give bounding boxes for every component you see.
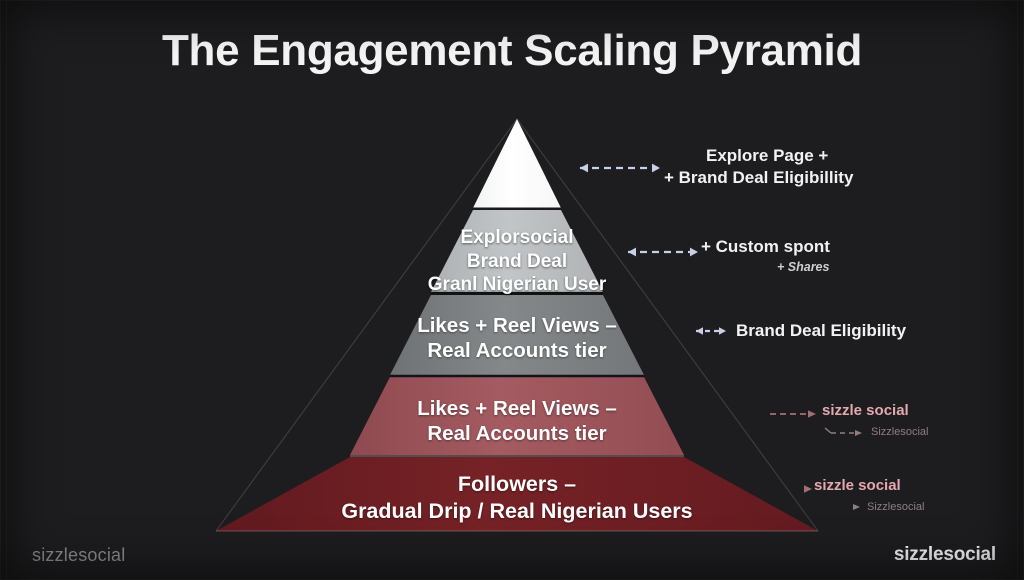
pyramid-tier-5-shape [216, 457, 818, 531]
watermark-bottom-right: sizzlesocial [894, 544, 996, 566]
frame-edge-right [1017, 0, 1018, 580]
pyramid-tier-2-shape [431, 210, 603, 292]
annotation-line-2: + Brand Deal Eligibillity [664, 167, 853, 189]
dashed-double-arrow-icon [570, 146, 668, 186]
dashed-arrow-small-icon [848, 499, 864, 513]
page-title: The Engagement Scaling Pyramid [0, 26, 1024, 76]
annotation-sizzle-social-tier5: sizzle social Sizzlesocial [800, 476, 924, 513]
annotation-explore-page: Explore Page + + Brand Deal Eligibillity [570, 146, 853, 189]
annotation-sub-row: Sizzlesocial [848, 499, 924, 513]
dashed-arrow-icon [800, 480, 814, 498]
pyramid-tier-1-shape [473, 119, 561, 208]
slide-canvas: The Engagement Scaling Pyramid [0, 0, 1024, 580]
annotation-line-2: Sizzlesocial [867, 501, 924, 513]
dashed-double-arrow-icon [618, 239, 706, 265]
annotation-line-1: Brand Deal Eligibility [736, 320, 906, 342]
annotation-sizzle-social-tier5-text: sizzle social Sizzlesocial [814, 476, 924, 513]
annotation-brand-deal-eligibility: Brand Deal Eligibility [688, 320, 906, 342]
watermark-bottom-left: sizzlesocial [32, 545, 125, 566]
annotation-line-2: + Shares [777, 260, 830, 274]
annotation-line-1: + Custom spont [701, 236, 830, 258]
pyramid-tier-4-shape [350, 377, 684, 455]
pyramid-tier-3-shape [390, 295, 644, 375]
annotation-custom-spont: + Custom spont + Shares [618, 239, 830, 274]
annotation-line-1: sizzle social [822, 401, 928, 421]
annotation-line-2: Sizzlesocial [871, 426, 928, 438]
annotation-explore-page-text: Explore Page + + Brand Deal Eligibillity [664, 145, 853, 189]
annotation-sizzle-social-tier4-text: sizzle social Sizzlesocial [822, 401, 928, 438]
dashed-double-arrow-short-icon [688, 321, 732, 341]
annotation-sub-row: Sizzlesocial [822, 424, 928, 438]
dashed-arrow-small-icon [822, 424, 868, 438]
annotation-sizzle-social-tier4: sizzle social Sizzlesocial [768, 401, 928, 438]
annotation-custom-spont-text: + Custom spont + Shares [701, 236, 830, 274]
annotation-line-1: sizzle social [814, 476, 924, 496]
dashed-arrow-icon [768, 405, 822, 423]
frame-edge-left [6, 0, 7, 580]
annotation-line-1: Explore Page + [706, 145, 853, 167]
